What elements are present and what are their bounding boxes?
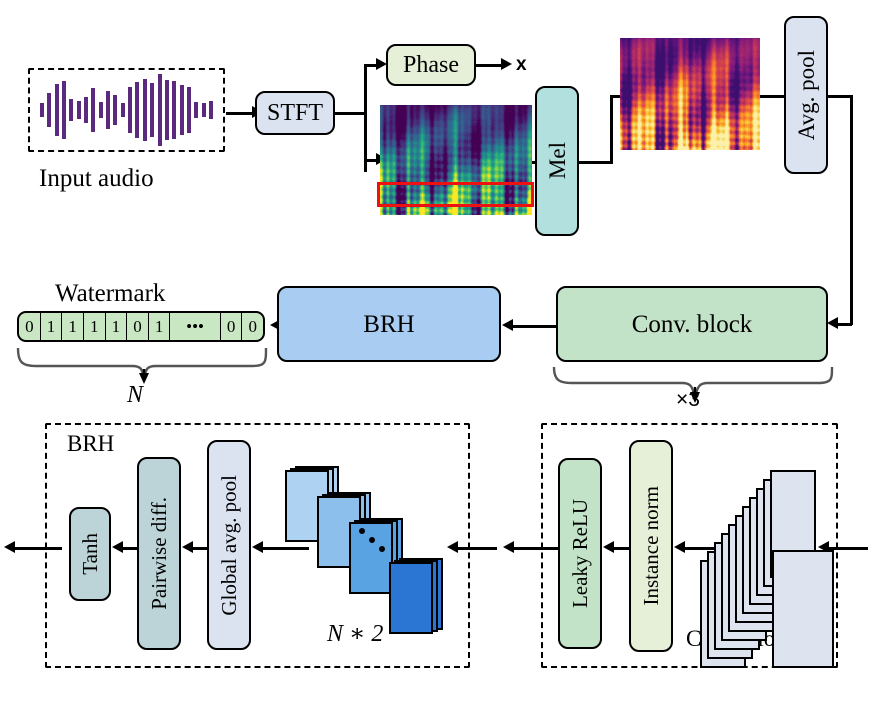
waveform-bar: [128, 87, 132, 133]
conn-phase-out: [476, 64, 504, 67]
waveform-bar: [106, 91, 110, 129]
watermark-bit: 1: [106, 313, 128, 340]
diagram-canvas: Input audio STFT Phase x Mel Avg. pool: [0, 0, 869, 722]
tanh-node: Tanh: [69, 507, 111, 601]
watermark-brace: [14, 344, 270, 384]
arrow-brh-detail-in: [447, 541, 458, 553]
avg-pool-node: Avg. pool: [784, 16, 828, 174]
watermark-ellipsis: •••: [170, 313, 220, 340]
arrow-pairwise-to-tanh: [112, 541, 123, 553]
waveform-bar: [180, 85, 184, 135]
conv-block-node: Conv. block: [556, 286, 828, 362]
conn-audio-to-stft: [226, 112, 254, 115]
global-avg-pool-label: Global avg. pool: [219, 475, 240, 616]
watermark-title: Watermark: [55, 281, 165, 306]
brh-detail-label: BRH: [67, 432, 114, 455]
mel-spectrogram: [620, 38, 760, 150]
conn-bus-to-conv: [836, 323, 852, 326]
watermark-bit: 1: [149, 313, 171, 340]
waveform-bar: [91, 88, 95, 132]
watermark-count-label: N: [127, 383, 143, 407]
mel-node: Mel: [535, 86, 579, 236]
waveform-bar: [69, 99, 73, 121]
arrow-stack-to-gap: [252, 541, 263, 553]
leaky-relu-node: Leaky ReLU: [558, 458, 602, 649]
waveform-bar: [209, 101, 213, 119]
conn-conv-to-brh: [511, 325, 559, 328]
waveform-bar: [99, 102, 103, 118]
arrow-conv-to-brh: [502, 319, 513, 331]
leaky-relu-label: Leaky ReLU: [570, 499, 591, 608]
arrow-instnorm-to-relu: [603, 541, 614, 553]
ellipsis-dots: [359, 528, 399, 568]
conn-mel-up: [610, 95, 613, 163]
instance-norm-label: Instance norm: [641, 486, 662, 606]
arrow-bus-to-conv: [827, 317, 838, 329]
waveform-bar: [84, 97, 88, 123]
watermark-bit: 0: [242, 313, 263, 340]
stft-label: STFT: [267, 101, 323, 125]
watermark-bit: 0: [127, 313, 149, 340]
waveform-bar: [47, 93, 51, 127]
tanh-label: Tanh: [80, 533, 101, 575]
waveform-bar: [55, 84, 59, 136]
phase-output-label: x: [516, 55, 527, 74]
waveform-bar: [158, 74, 162, 146]
channels-label: N ∗ 2: [327, 622, 383, 646]
arrow-convstack-to-instnorm: [674, 541, 685, 553]
waveform-bar: [143, 79, 147, 141]
stft-node: STFT: [255, 91, 335, 135]
avg-pool-label: Avg. pool: [795, 50, 818, 140]
instance-norm-node: Instance norm: [629, 440, 673, 652]
watermark-bit-strip: 0111101•••00: [17, 311, 265, 342]
audio-waveform: [40, 74, 213, 146]
waveform-bar: [40, 103, 44, 117]
low-band-highlight: [377, 182, 534, 207]
conn-mel-out: [579, 161, 613, 164]
input-audio-label: Input audio: [39, 166, 154, 191]
watermark-bit: 0: [19, 313, 41, 340]
waveform-bar: [172, 81, 176, 139]
conv-block-label: Conv. block: [632, 312, 753, 337]
conn-conv-detail-out: [511, 547, 559, 550]
waveform-bar: [135, 82, 139, 138]
waveform-bar: [202, 103, 206, 117]
conn-brh-detail-out: [12, 547, 62, 550]
pairwise-diff-node: Pairwise diff.: [137, 457, 181, 650]
conv-kernel-stack: [700, 470, 840, 635]
conn-stft-out: [335, 112, 366, 115]
waveform-bar: [62, 81, 66, 139]
global-avg-pool-node: Global avg. pool: [207, 440, 251, 650]
feature-map-card: [389, 562, 433, 634]
arrow-gap-to-pairwise: [182, 541, 193, 553]
watermark-bit: 0: [221, 313, 243, 340]
waveform-bar: [150, 83, 154, 137]
arrow-brh-detail-out: [4, 541, 15, 553]
watermark-bit: 1: [41, 313, 63, 340]
conn-right-bus: [850, 95, 853, 325]
waveform-bar: [165, 80, 169, 140]
pairwise-diff-label: Pairwise diff.: [149, 497, 170, 610]
brh-node: BRH: [277, 286, 501, 362]
waveform-bar: [113, 95, 117, 125]
arrow-conv-detail-out: [503, 541, 514, 553]
watermark-bit: 1: [84, 313, 106, 340]
brh-label: BRH: [363, 312, 414, 337]
waveform-bar: [121, 103, 125, 117]
waveform-bar: [194, 102, 198, 118]
conv-kernel-front-sheet: [772, 550, 834, 668]
mel-label: Mel: [546, 142, 569, 179]
conn-stft-split: [364, 64, 367, 172]
phase-label: Phase: [403, 53, 459, 77]
watermark-bit: 1: [62, 313, 84, 340]
waveform-bar: [77, 101, 81, 119]
waveform-bar: [187, 87, 191, 133]
repeat-label: ×3: [676, 389, 700, 410]
arrow-phase-out: [501, 58, 512, 70]
conn-brh-detail-in: [455, 547, 497, 550]
phase-node: Phase: [386, 44, 476, 86]
